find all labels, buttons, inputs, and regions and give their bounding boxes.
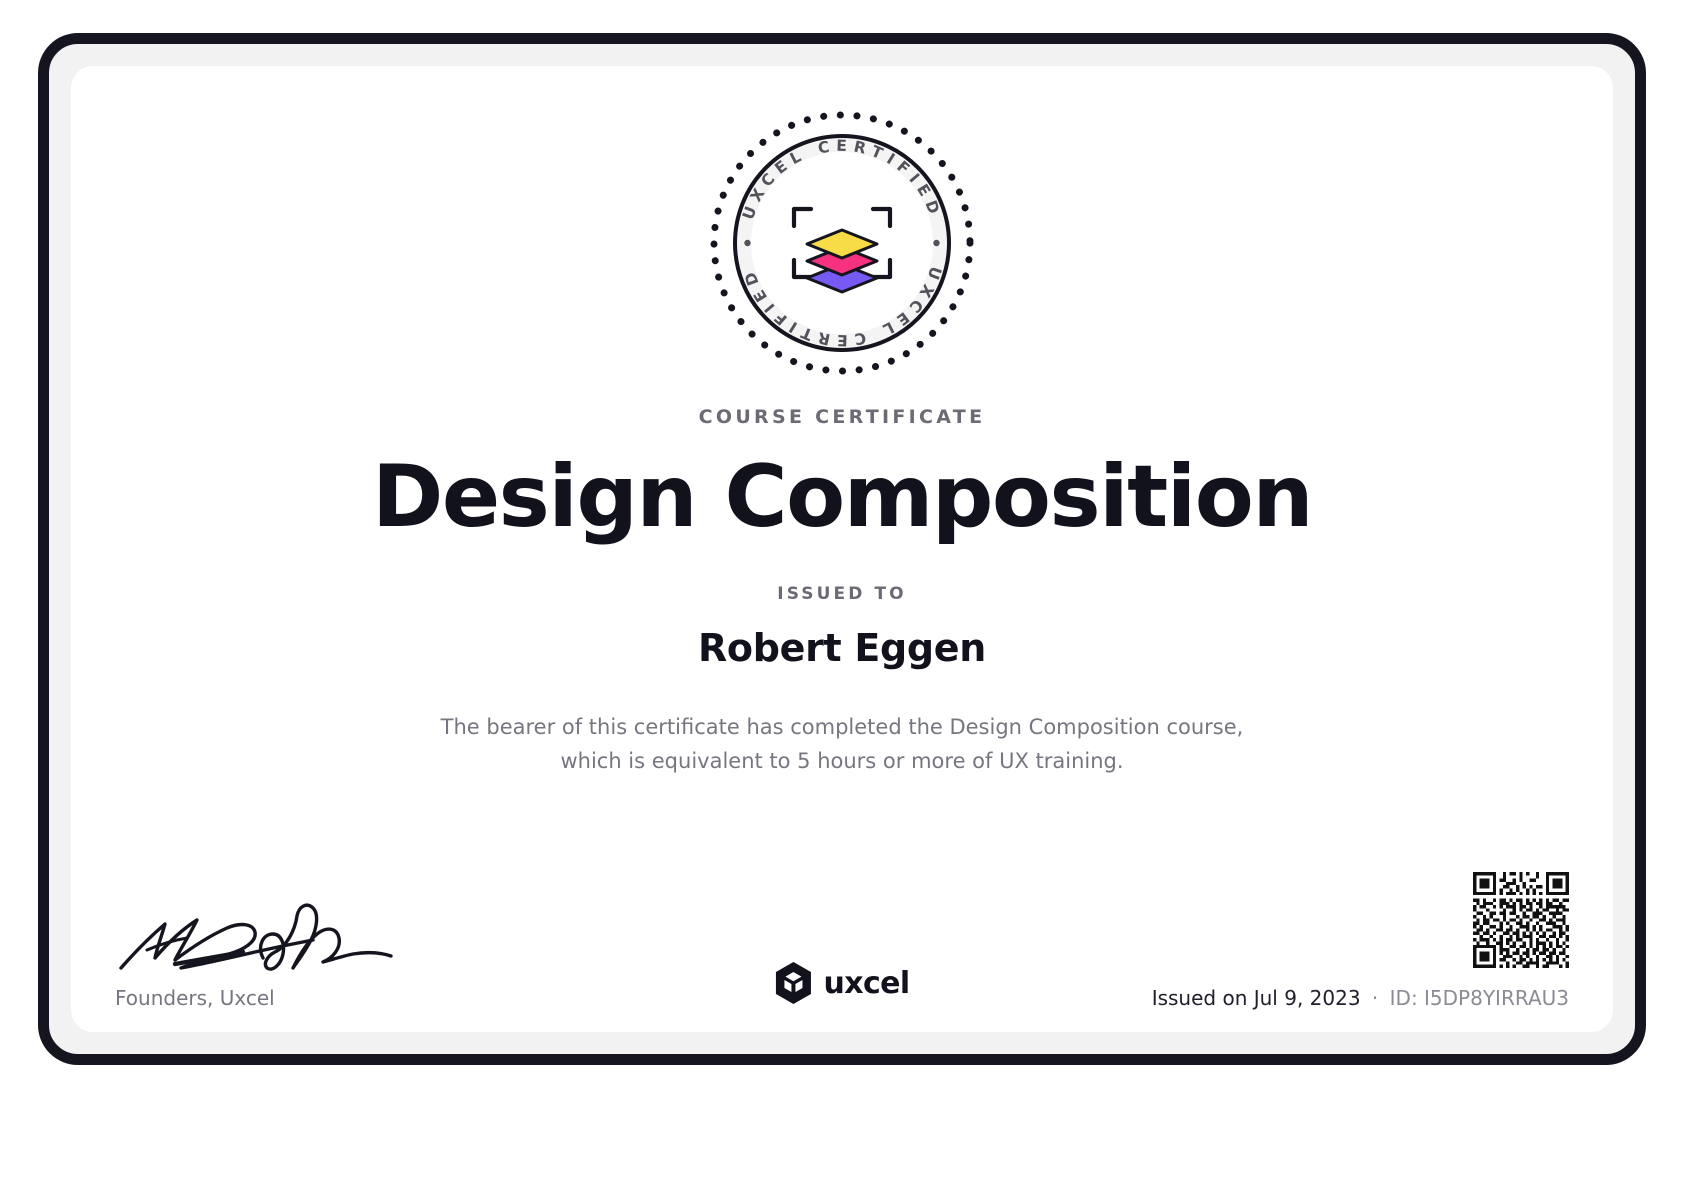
certificate-meta: Issued on Jul 9, 2023 · ID: I5DP8YIRRAU3	[1152, 872, 1569, 1010]
uxcel-brand: uxcel	[774, 962, 909, 1004]
certificate-paper: UXCEL CERTIFIED UXCEL CERTIFIED	[71, 66, 1613, 1032]
certificate-body: COURSE CERTIFICATE Design Composition IS…	[71, 406, 1613, 778]
signature-label: Founders, Uxcel	[115, 986, 493, 1010]
uxcel-wordmark: uxcel	[823, 966, 909, 1001]
eyebrow-label: COURSE CERTIFICATE	[71, 406, 1613, 428]
course-title: Design Composition	[71, 454, 1613, 542]
description-line-2: which is equivalent to 5 hours or more o…	[71, 744, 1613, 778]
badge-layers-icon	[807, 230, 877, 292]
signature-block: Founders, Uxcel	[113, 894, 493, 1010]
certificate-footer: Founders, Uxcel uxcel	[71, 832, 1613, 1032]
description-line-1: The bearer of this certificate has compl…	[71, 710, 1613, 744]
founders-signature-icon	[117, 894, 395, 976]
certificate-id-text: ID: I5DP8YIRRAU3	[1390, 986, 1569, 1010]
issue-meta-line: Issued on Jul 9, 2023 · ID: I5DP8YIRRAU3	[1152, 986, 1569, 1010]
uxcel-certified-badge: UXCEL CERTIFIED UXCEL CERTIFIED	[708, 109, 976, 377]
recipient-name: Robert Eggen	[71, 626, 1613, 670]
badge-bullet-left	[744, 240, 750, 246]
issued-to-label: ISSUED TO	[71, 584, 1613, 604]
certificate-description: The bearer of this certificate has compl…	[71, 710, 1613, 778]
uxcel-cube-logo-icon	[774, 962, 812, 1004]
issued-on-text: Issued on Jul 9, 2023	[1152, 986, 1361, 1010]
badge-bullet-right	[933, 240, 939, 246]
certificate-frame: UXCEL CERTIFIED UXCEL CERTIFIED	[38, 33, 1646, 1065]
qr-code-icon[interactable]	[1473, 872, 1569, 968]
meta-separator: ·	[1367, 986, 1383, 1010]
